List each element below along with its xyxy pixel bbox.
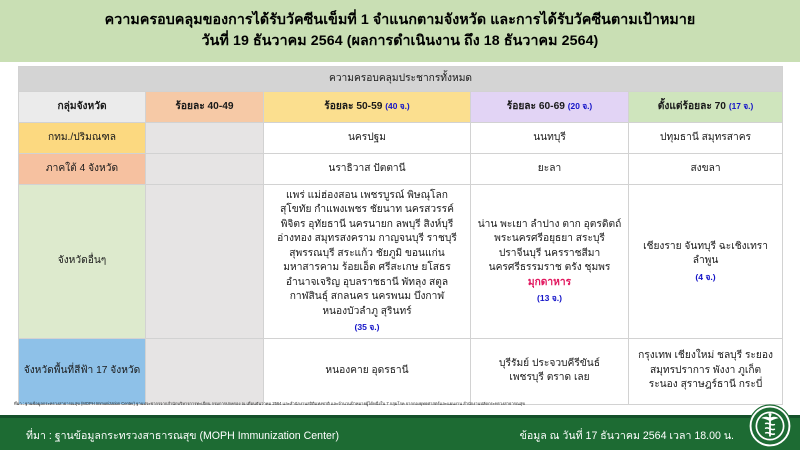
cell-south-50-59: นราธิวาส ปัตตานี xyxy=(264,154,471,185)
header-pct-40-49-label: ร้อยละ 40-49 xyxy=(175,101,233,112)
cell-bkk-70-plus: ปทุมธานี สมุทรสาคร xyxy=(629,123,783,154)
header-pct-60-69: ร้อยละ 60-69 (20 จ.) xyxy=(471,92,629,123)
cell-south-70-plus: สงขลา xyxy=(629,154,783,185)
cell-other-50-59-text: แพร่ แม่ฮ่องสอน เพชรบูรณ์ พิษณุโลก สุโขท… xyxy=(277,190,457,317)
page-title-line-1: ความครอบคลุมของการได้รับวัคซีนเข็มที่ 1 … xyxy=(105,12,696,30)
cell-other-70-plus: เชียงราย จันทบุรี ฉะเชิงเทรา ลำพูน (4 จ.… xyxy=(629,185,783,339)
cell-other-70-plus-count: (4 จ.) xyxy=(635,271,776,283)
header-pct-50-59-label: ร้อยละ 50-59 xyxy=(324,101,382,112)
cell-other-50-59-count: (35 จ.) xyxy=(270,321,464,333)
title-band: ความครอบคลุมของการได้รับวัคซีนเข็มที่ 1 … xyxy=(0,0,800,62)
row-label-other-provinces: จังหวัดอื่นๆ xyxy=(19,185,146,339)
cell-other-40-49 xyxy=(146,185,264,339)
bottom-bar-asof: ข้อมูล ณ วันที่ 17 ธันวาคม 2564 เวลา 18.… xyxy=(520,427,734,444)
slide-root: ความครอบคลุมของการได้รับวัคซีนเข็มที่ 1 … xyxy=(0,0,800,450)
header-pct-40-49: ร้อยละ 40-49 xyxy=(146,92,264,123)
header-pct-70-plus-label: ตั้งแต่ร้อยละ 70 xyxy=(658,101,726,112)
coverage-table-wrapper: ความครอบคลุมประชากรทั้งหมด กลุ่มจังหวัด … xyxy=(18,66,782,405)
header-pct-60-69-count: (20 จ.) xyxy=(568,101,592,111)
row-label-bkk-perimeter: กทม./ปริมณฑล xyxy=(19,123,146,154)
table-row: กทม./ปริมณฑล นครปฐม นนทบุรี ปทุมธานี สมุ… xyxy=(19,123,783,154)
header-pct-60-69-label: ร้อยละ 60-69 xyxy=(507,101,565,112)
table-row: จังหวัดอื่นๆ แพร่ แม่ฮ่องสอน เพชรบูรณ์ พ… xyxy=(19,185,783,339)
table-header-top-row: ความครอบคลุมประชากรทั้งหมด xyxy=(19,67,783,92)
header-total-coverage: ความครอบคลุมประชากรทั้งหมด xyxy=(19,67,783,92)
footnote-source-note: ที่มา : ฐานข้อมูลกระทรวงสาธารณสุข (MOPH … xyxy=(14,401,774,407)
row-label-blue-zone-17: จังหวัดพื้นที่สีฟ้า 17 จังหวัด xyxy=(19,338,146,404)
cell-bkk-60-69: นนทบุรี xyxy=(471,123,629,154)
header-pct-70-plus-count: (17 จ.) xyxy=(729,101,753,111)
header-pct-50-59: ร้อยละ 50-59 (40 จ.) xyxy=(264,92,471,123)
cell-south-60-69: ยะลา xyxy=(471,154,629,185)
cell-other-60-69-text: น่าน พะเยา ลำปาง ตาก อุตรดิตถ์ พระนครศรี… xyxy=(478,219,622,273)
cell-bkk-40-49 xyxy=(146,123,264,154)
table-header-columns-row: กลุ่มจังหวัด ร้อยละ 40-49 ร้อยละ 50-59 (… xyxy=(19,92,783,123)
cell-blue-60-69-text: บุรีรัมย์ ประจวบคีรีขันธ์ เพชรบุรี ตราด … xyxy=(499,358,600,383)
cell-other-70-plus-text: เชียงราย จันทบุรี ฉะเชิงเทรา ลำพูน xyxy=(643,241,768,266)
cell-blue-70-plus: กรุงเทพ เชียงใหม่ ชลบุรี ระยอง สมุทรปราก… xyxy=(629,338,783,404)
header-pct-50-59-count: (40 จ.) xyxy=(385,101,409,111)
cell-blue-70-plus-text: กรุงเทพ เชียงใหม่ ชลบุรี ระยอง สมุทรปราก… xyxy=(638,350,773,390)
moph-logo-icon xyxy=(748,404,792,448)
cell-south-40-49 xyxy=(146,154,264,185)
cell-blue-60-69: บุรีรัมย์ ประจวบคีรีขันธ์ เพชรบุรี ตราด … xyxy=(471,338,629,404)
bottom-bar-source: ที่มา : ฐานข้อมูลกระทรวงสาธารณสุข (MOPH … xyxy=(26,427,339,444)
cell-blue-40-49 xyxy=(146,338,264,404)
cell-other-60-69: น่าน พะเยา ลำปาง ตาก อุตรดิตถ์ พระนครศรี… xyxy=(471,185,629,339)
table-row: จังหวัดพื้นที่สีฟ้า 17 จังหวัด หนองคาย อ… xyxy=(19,338,783,404)
cell-bkk-50-59: นครปฐม xyxy=(264,123,471,154)
header-province-group: กลุ่มจังหวัด xyxy=(19,92,146,123)
row-label-south-4: ภาคใต้ 4 จังหวัด xyxy=(19,154,146,185)
cell-other-50-59: แพร่ แม่ฮ่องสอน เพชรบูรณ์ พิษณุโลก สุโขท… xyxy=(264,185,471,339)
table-row: ภาคใต้ 4 จังหวัด นราธิวาส ปัตตานี ยะลา ส… xyxy=(19,154,783,185)
page-title-line-2: วันที่ 19 ธันวาคม 2564 (ผลการดำเนินงาน ถ… xyxy=(202,33,599,51)
cell-other-60-69-count: (13 จ.) xyxy=(477,292,622,304)
header-pct-70-plus: ตั้งแต่ร้อยละ 70 (17 จ.) xyxy=(629,92,783,123)
cell-blue-50-59: หนองคาย อุดรธานี xyxy=(264,338,471,404)
cell-other-60-69-highlight: มุกดาหาร xyxy=(528,277,571,288)
coverage-table: ความครอบคลุมประชากรทั้งหมด กลุ่มจังหวัด … xyxy=(18,66,783,405)
